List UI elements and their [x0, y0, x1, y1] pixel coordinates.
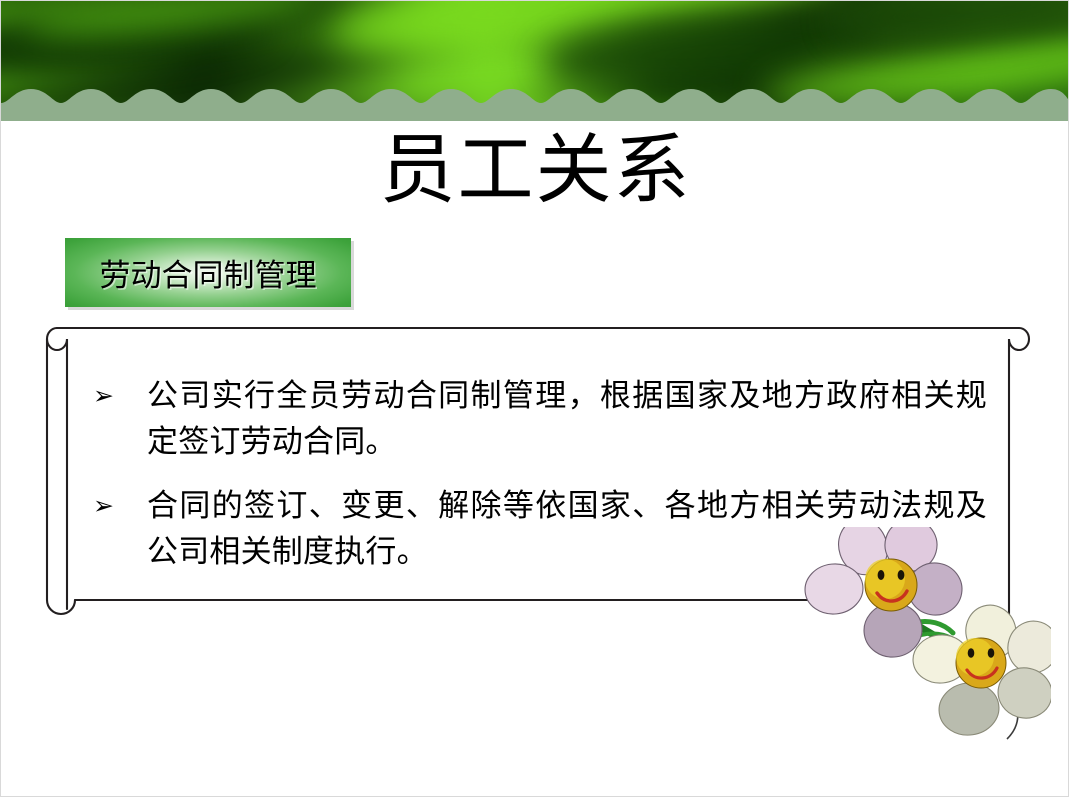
- scalloped-divider: [1, 89, 1069, 121]
- pink-flower-face: [865, 559, 917, 611]
- bullet-arrow-icon: ➢: [87, 483, 147, 529]
- scallop-shape: [1, 89, 1069, 121]
- cream-flower-face: [956, 638, 1006, 688]
- section-label-text: 劳动合同制管理: [65, 238, 351, 307]
- page-title: 员工关系: [1, 132, 1069, 208]
- bullet-arrow-icon: ➢: [87, 373, 147, 419]
- list-item: ➢ 公司实行全员劳动合同制管理，根据国家及地方政府相关规定签订劳动合同。: [87, 373, 987, 465]
- flowers-shape: [801, 527, 1051, 747]
- section-label-chip: 劳动合同制管理: [65, 238, 351, 307]
- slide: 员工关系 劳动合同制管理 ➢ 公司实行全员劳动合同制管理，根据国家及地方政府相关…: [0, 0, 1069, 797]
- smiley-flowers-clipart: [801, 527, 1051, 747]
- list-item-text: 公司实行全员劳动合同制管理，根据国家及地方政府相关规定签订劳动合同。: [147, 373, 987, 465]
